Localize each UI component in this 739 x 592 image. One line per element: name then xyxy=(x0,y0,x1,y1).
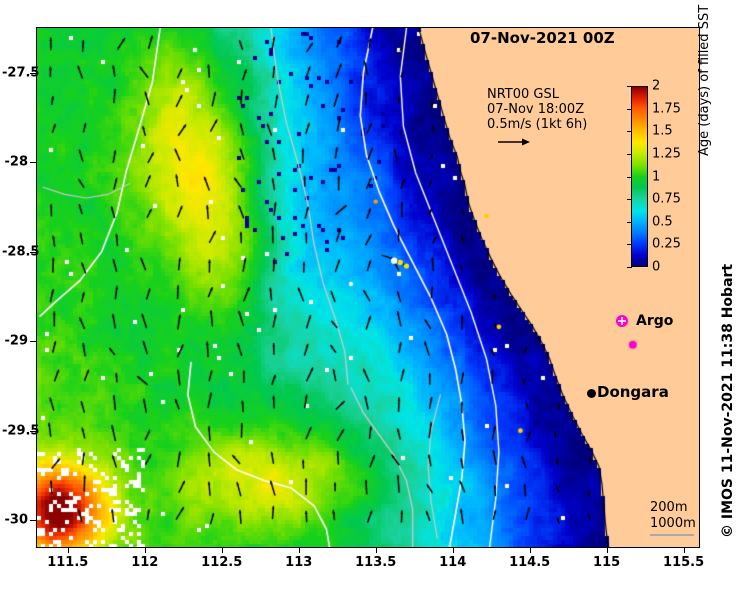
colorbar-tick-mark xyxy=(627,109,632,110)
y-tick-label: -29 xyxy=(2,334,28,349)
x-tick-label: 115.5 xyxy=(663,555,704,570)
x-tick-mark xyxy=(68,547,69,553)
y-tick-label: -28.5 xyxy=(2,244,28,259)
current-time-label: 07-Nov 18:00Z xyxy=(487,102,587,117)
y-tick-label: -30 xyxy=(2,513,28,528)
copyright-label: © IMOS 11-Nov-2021 11:38 Hobart xyxy=(720,264,736,538)
colorbar-tick-mark xyxy=(627,177,632,178)
colorbar-tick-mark xyxy=(627,244,632,245)
x-tick-mark xyxy=(684,547,685,553)
colorbar-tick-label: 0.5 xyxy=(652,214,673,229)
y-tick-label: -29.5 xyxy=(2,423,28,438)
depth-contour-scale: 200m 1000m xyxy=(650,500,696,536)
argo-legend-label: Argo xyxy=(636,313,673,329)
x-tick-mark xyxy=(145,547,146,553)
sst-age-map-figure: 111.5112112.5113113.5114114.5115115.5-27… xyxy=(0,0,739,592)
depth-scale-rule xyxy=(650,534,694,536)
y-tick-mark xyxy=(30,520,36,521)
x-tick-label: 113.5 xyxy=(355,555,396,570)
x-tick-label: 114.5 xyxy=(509,555,550,570)
map-title: 07-Nov-2021 00Z xyxy=(470,29,615,47)
y-tick-mark xyxy=(30,162,36,163)
dongara-label: Dongara xyxy=(597,383,669,401)
colorbar-tick-label: 0.75 xyxy=(652,192,681,207)
current-scale-label: 0.5m/s (1kt 6h) xyxy=(487,117,587,132)
colorbar-tick-mark xyxy=(627,86,632,87)
argo-float-icon xyxy=(615,314,629,328)
depth-scale-shallow: 200m xyxy=(650,500,696,516)
colorbar-tick-label: 2 xyxy=(652,79,660,94)
x-tick-mark xyxy=(376,547,377,553)
colorbar-tick-mark xyxy=(627,267,632,268)
y-tick-mark xyxy=(30,341,36,342)
colorbar-tick-label: 1.25 xyxy=(652,146,681,161)
x-tick-label: 113 xyxy=(285,555,312,570)
colorbar-axis-label: Age (days) of filled SST (wrt latest) xyxy=(697,0,712,156)
x-tick-label: 111.5 xyxy=(47,555,88,570)
colorbar-tick-label: 1.5 xyxy=(652,124,673,139)
colorbar-tick-label: 0.25 xyxy=(652,237,681,252)
current-source-label: NRT00 GSL xyxy=(487,87,587,102)
right-arrow-icon xyxy=(497,136,531,148)
colorbar-tick-label: 1 xyxy=(652,169,660,184)
x-tick-mark xyxy=(453,547,454,553)
x-tick-mark xyxy=(607,547,608,553)
colorbar-tick-mark xyxy=(627,222,632,223)
x-tick-label: 114 xyxy=(439,555,466,570)
x-tick-label: 112 xyxy=(131,555,158,570)
y-tick-label: -28 xyxy=(2,155,28,170)
colorbar-tick-label: 0 xyxy=(652,260,660,275)
colorbar-tick-mark xyxy=(627,154,632,155)
currents-and-contours-overlay xyxy=(37,28,699,547)
colorbar-tick-label: 1.75 xyxy=(652,101,681,116)
argo-legend: Argo xyxy=(615,313,673,329)
current-field-annotation: NRT00 GSL 07-Nov 18:00Z 0.5m/s (1kt 6h) xyxy=(487,87,587,132)
depth-scale-deep: 1000m xyxy=(650,516,696,532)
dongara-marker xyxy=(587,389,596,398)
x-tick-mark xyxy=(222,547,223,553)
colorbar-gradient xyxy=(631,86,648,267)
colorbar-tick-mark xyxy=(627,199,632,200)
colorbar-tick-mark xyxy=(627,131,632,132)
map-plot-area[interactable] xyxy=(36,27,700,548)
x-tick-mark xyxy=(530,547,531,553)
x-tick-label: 115 xyxy=(593,555,620,570)
y-tick-label: -27.5 xyxy=(2,65,28,80)
x-tick-mark xyxy=(299,547,300,553)
x-tick-label: 112.5 xyxy=(201,555,242,570)
